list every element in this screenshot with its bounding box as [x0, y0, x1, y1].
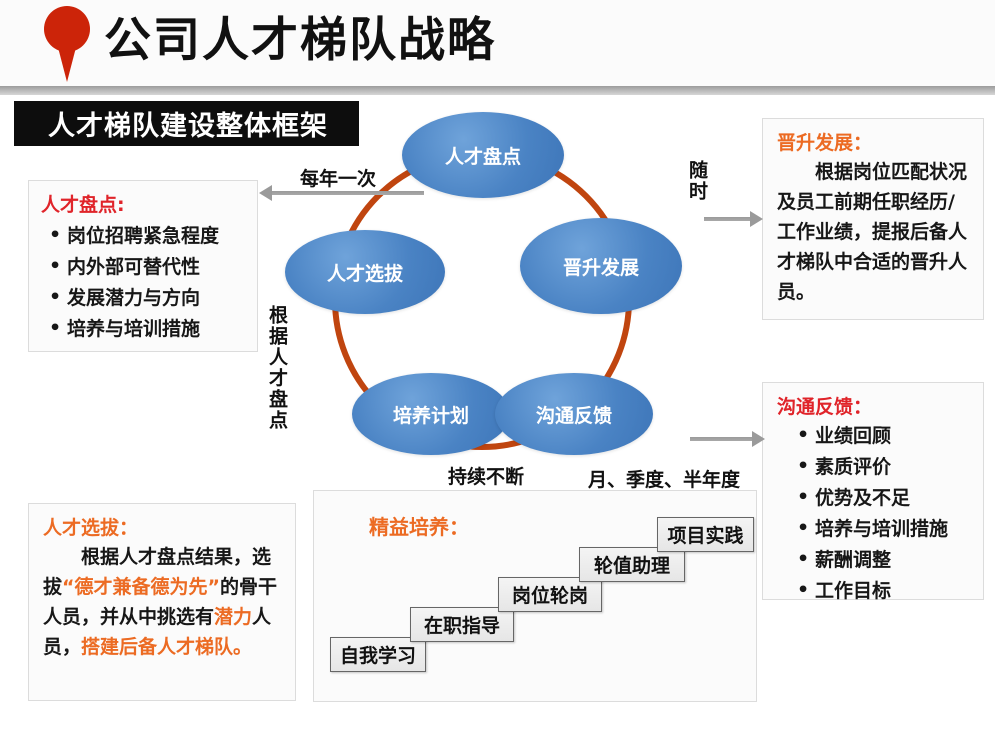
- panel-communication-list: 业绩回顾 素质评价 优势及不足 培养与培训措施 薪酬调整 工作目标: [793, 421, 948, 607]
- panel-lean-training: 精益培养： 自我学习 在职指导 岗位轮岗 轮值助理 项目实践: [313, 490, 757, 702]
- panel-talent-selection: 人才选拔： 根据人才盘点结果，选拔“德才兼备德为先”的骨干人员，并从中挑选有潜力…: [28, 503, 296, 701]
- arrow-anytime-line: [704, 217, 750, 221]
- list-item: 内外部可替代性: [45, 252, 219, 283]
- panel-communication: 沟通反馈： 业绩回顾 素质评价 优势及不足 培养与培训措施 薪酬调整 工作目标: [762, 382, 984, 600]
- selection-highlight-2: 潜力: [214, 606, 252, 628]
- panel-promotion: 晋升发展： 根据岗位匹配状况及员工前期任职经历/工作业绩，提报后备人才梯队中合适…: [762, 118, 984, 320]
- cycle-node-talent-selection: 人才选拔: [285, 230, 445, 314]
- staircase-step: 自我学习: [330, 637, 426, 672]
- cycle-label-continuous: 持续不断: [448, 462, 524, 489]
- panel-talent-review-list: 岗位招聘紧急程度 内外部可替代性 发展潜力与方向 培养与培训措施: [45, 221, 219, 345]
- list-item: 优势及不足: [793, 483, 948, 514]
- map-pin-icon: [44, 6, 90, 82]
- page-title: 公司人才梯队战略: [104, 4, 496, 78]
- cycle-node-promotion: 晋升发展: [520, 218, 682, 314]
- slide-header: 公司人才梯队战略: [0, 0, 995, 86]
- selection-highlight-1: “德才兼备德为先”: [62, 576, 220, 598]
- panel-promotion-body: 根据岗位匹配状况及员工前期任职经历/工作业绩，提报后备人才梯队中合适的晋升人员。: [777, 157, 973, 307]
- list-item: 岗位招聘紧急程度: [45, 221, 219, 252]
- slide-canvas: 公司人才梯队战略 人才梯队建设整体框架 人才盘点: 岗位招聘紧急程度 内外部可替…: [0, 0, 995, 729]
- arrow-cadence-head: [752, 431, 765, 447]
- panel-talent-selection-body: 根据人才盘点结果，选拔“德才兼备德为先”的骨干人员，并从中挑选有潜力人员，搭建后…: [43, 542, 285, 662]
- list-item: 发展潜力与方向: [45, 283, 219, 314]
- panel-talent-selection-title: 人才选拔：: [43, 513, 138, 540]
- list-item: 工作目标: [793, 576, 948, 607]
- cycle-label-based-on-review: 根据人才盘点: [266, 305, 288, 431]
- panel-talent-review-title: 人才盘点:: [41, 190, 125, 217]
- panel-talent-review: 人才盘点: 岗位招聘紧急程度 内外部可替代性 发展潜力与方向 培养与培训措施: [28, 180, 258, 352]
- list-item: 素质评价: [793, 452, 948, 483]
- cycle-node-training-plan: 培养计划: [352, 373, 510, 455]
- staircase-step: 在职指导: [410, 607, 514, 642]
- cycle-node-talent-review: 人才盘点: [402, 112, 564, 198]
- staircase-step: 岗位轮岗: [498, 577, 602, 612]
- cycle-node-communication: 沟通反馈: [495, 373, 653, 455]
- cycle-label-cadence: 月、季度、半年度: [588, 465, 740, 492]
- cycle-label-anytime: 随时: [686, 160, 708, 202]
- staircase-diagram: 自我学习 在职指导 岗位轮岗 轮值助理 项目实践: [314, 491, 758, 703]
- staircase-step: 项目实践: [657, 517, 754, 552]
- list-item: 培养与培训措施: [793, 514, 948, 545]
- list-item: 培养与培训措施: [45, 314, 219, 345]
- staircase-step: 轮值助理: [579, 547, 685, 582]
- arrow-annual-head: [259, 185, 272, 201]
- list-item: 业绩回顾: [793, 421, 948, 452]
- list-item: 薪酬调整: [793, 545, 948, 576]
- cycle-label-annual: 每年一次: [300, 164, 376, 191]
- selection-highlight-3: 搭建后备人才梯队。: [81, 636, 252, 658]
- arrow-annual-line: [272, 191, 424, 195]
- map-pin-bulb: [44, 6, 90, 52]
- arrow-anytime-head: [750, 211, 763, 227]
- header-divider: [0, 86, 995, 95]
- panel-promotion-title: 晋升发展：: [777, 128, 872, 155]
- panel-communication-title: 沟通反馈：: [777, 392, 872, 419]
- arrow-cadence-line: [690, 437, 752, 441]
